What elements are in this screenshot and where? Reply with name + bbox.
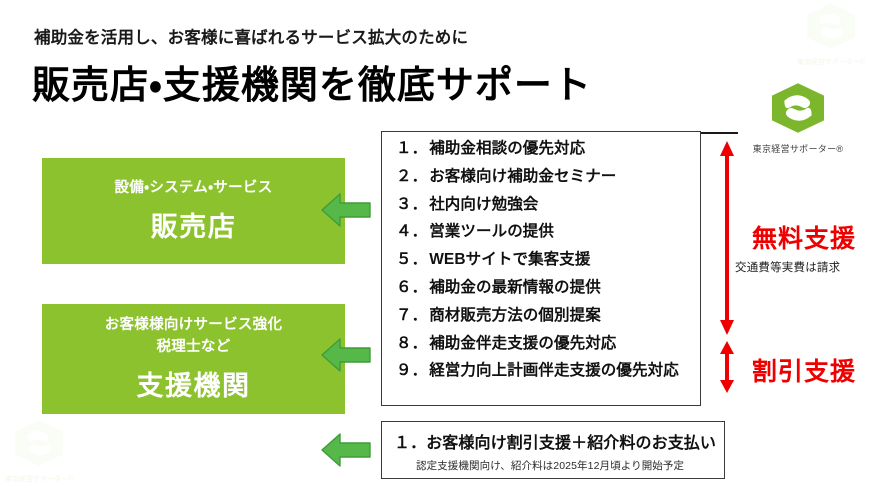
brand-logo-caption: 東京経営サポーター® [753,142,844,155]
list-item-number: １． [396,140,427,157]
actor-dealer-name: 販売店 [151,205,237,244]
free-support-note: 交通費等実費は請求 [735,259,840,275]
list-item: ４．営業ツールの提供 [396,224,700,240]
list-item-label: 補助金伴走支援の優先対応 [429,335,616,352]
discount-support-label: 割引支援 [752,352,856,388]
list-item-label: WEBサイトで集客支援 [429,251,590,268]
actor-box-support: お客様様向けサービス強化 税理士など 支援機関 [42,304,345,414]
list-item: ６．補助金の最新情報の提供 [396,280,700,296]
payment-note: 認定支援機関向け、紹介料は2025年12月頃より開始予定 [416,458,724,473]
services-listbox: １．補助金相談の優先対応 ２．お客様向け補助金セミナー ３．社内向け勉強会 ４．… [381,131,701,406]
watermark-caption: 東京経営サポーター® [797,57,865,67]
arrow-left-icon-to-support [320,337,372,373]
actor-dealer-subtitle: 設備・システム・サービス [114,178,272,199]
watermark-caption: 東京経営サポーター® [5,474,73,484]
page-title: 販売店・支援機関を徹底サポート [32,54,592,109]
list-item-label: お客様向け補助金セミナー [429,168,616,185]
actor-support-name: 支援機関 [137,364,251,403]
services-list: １．補助金相談の優先対応 ２．お客様向け補助金セミナー ３．社内向け勉強会 ４．… [382,132,700,379]
list-item-number: ７． [396,307,427,324]
brand-logo-icon [767,82,829,139]
arrow-double-vertical-icon-free [719,140,735,336]
arrow-double-vertical-icon-discount [719,340,735,394]
list-item: ３．社内向け勉強会 [396,197,700,213]
list-item-number: ２． [396,168,427,185]
payment-listbox: １．お客様向け割引支援＋紹介料のお支払い 認定支援機関向け、紹介料は2025年1… [381,421,725,479]
list-item: ２．お客様向け補助金セミナー [396,169,700,185]
brand-logo-watermark-icon [802,2,860,55]
free-support-label: 無料支援 [752,219,856,255]
list-item-number: ４． [396,223,427,240]
slide-canvas: 東京経営サポーター® 東京経営サポーター® 補助金を活用し、お客様に喜ばれるサー… [0,0,870,486]
list-item: ９．経営力向上計画伴走支援の優先対応 [396,363,700,379]
list-item-number: ５． [396,251,427,268]
brand-logo-block: 東京経営サポーター® [738,82,858,155]
watermark-bottom-left: 東京経営サポーター® [2,419,76,484]
list-item: ５．WEBサイトで集客支援 [396,252,700,268]
actor-support-subtitle-line1: お客様様向けサービス強化 [105,315,283,336]
list-item-label: 経営力向上計画伴走支援の優先対応 [429,362,679,379]
arrow-left-icon-to-payment [320,432,372,468]
list-item-number: ９． [396,362,427,379]
actor-support-subtitle-line2: 税理士など [157,337,231,358]
list-item-number: ３． [396,196,427,213]
list-item-number: ６． [396,279,427,296]
list-item: ８．補助金伴走支援の優先対応 [396,336,700,352]
payment-headline: １．お客様向け割引支援＋紹介料のお支払い [394,429,724,453]
list-item-label: 社内向け勉強会 [429,196,538,213]
list-item-label: 補助金相談の優先対応 [429,140,585,157]
watermark-top-right: 東京経営サポーター® [794,2,868,67]
slide-kicker: 補助金を活用し、お客様に喜ばれるサービス拡大のために [34,24,468,48]
brand-logo-watermark-icon [10,419,68,472]
list-item-label: 商材販売方法の個別提案 [429,307,601,324]
list-item-number: ８． [396,335,427,352]
arrow-left-icon-to-dealer [320,192,372,228]
actor-box-dealer: 設備・システム・サービス 販売店 [42,158,345,264]
list-item: １．補助金相談の優先対応 [396,141,700,157]
list-item-label: 営業ツールの提供 [429,223,554,240]
list-item: ７．商材販売方法の個別提案 [396,308,700,324]
list-item-label: 補助金の最新情報の提供 [429,279,601,296]
